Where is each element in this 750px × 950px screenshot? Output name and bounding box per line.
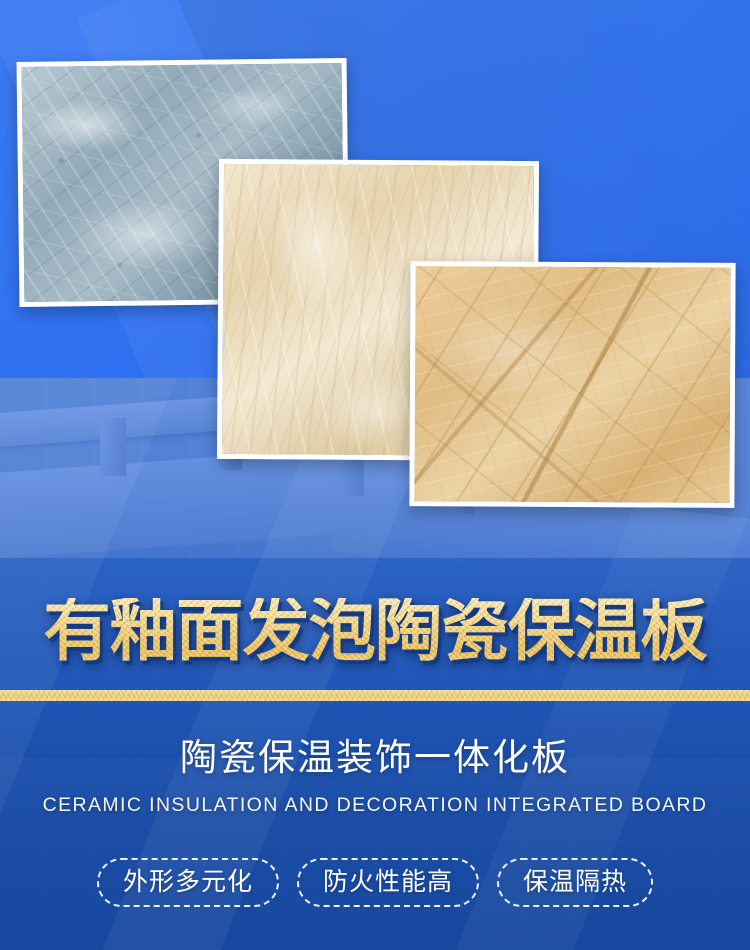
feature-badge-group: 外形多元化 防火性能高 保温隔热 (0, 858, 750, 907)
feature-badge-shape-diversity[interactable]: 外形多元化 (97, 858, 279, 907)
subtitle-zone: 陶瓷保温装饰一体化板 CERAMIC INSULATION AND DECORA… (0, 735, 750, 817)
feature-badge-fire-resistance[interactable]: 防火性能高 (297, 858, 479, 907)
main-title: 有釉面发泡陶瓷保温板 (43, 598, 706, 666)
tile-vein-overlay (414, 266, 730, 503)
subtitle-chinese: 陶瓷保温装饰一体化板 (0, 735, 750, 781)
feature-badge-thermal-insulation[interactable]: 保温隔热 (497, 858, 653, 907)
subtitle-english: CERAMIC INSULATION AND DECORATION INTEGR… (0, 794, 750, 817)
gold-divider-bar (0, 690, 750, 701)
headline-zone: 有釉面发泡陶瓷保温板 (0, 586, 750, 678)
tile-sample-tan-marble[interactable] (409, 261, 735, 508)
product-banner-poster: 有釉面发泡陶瓷保温板 陶瓷保温装饰一体化板 CERAMIC INSULATION… (0, 0, 750, 950)
